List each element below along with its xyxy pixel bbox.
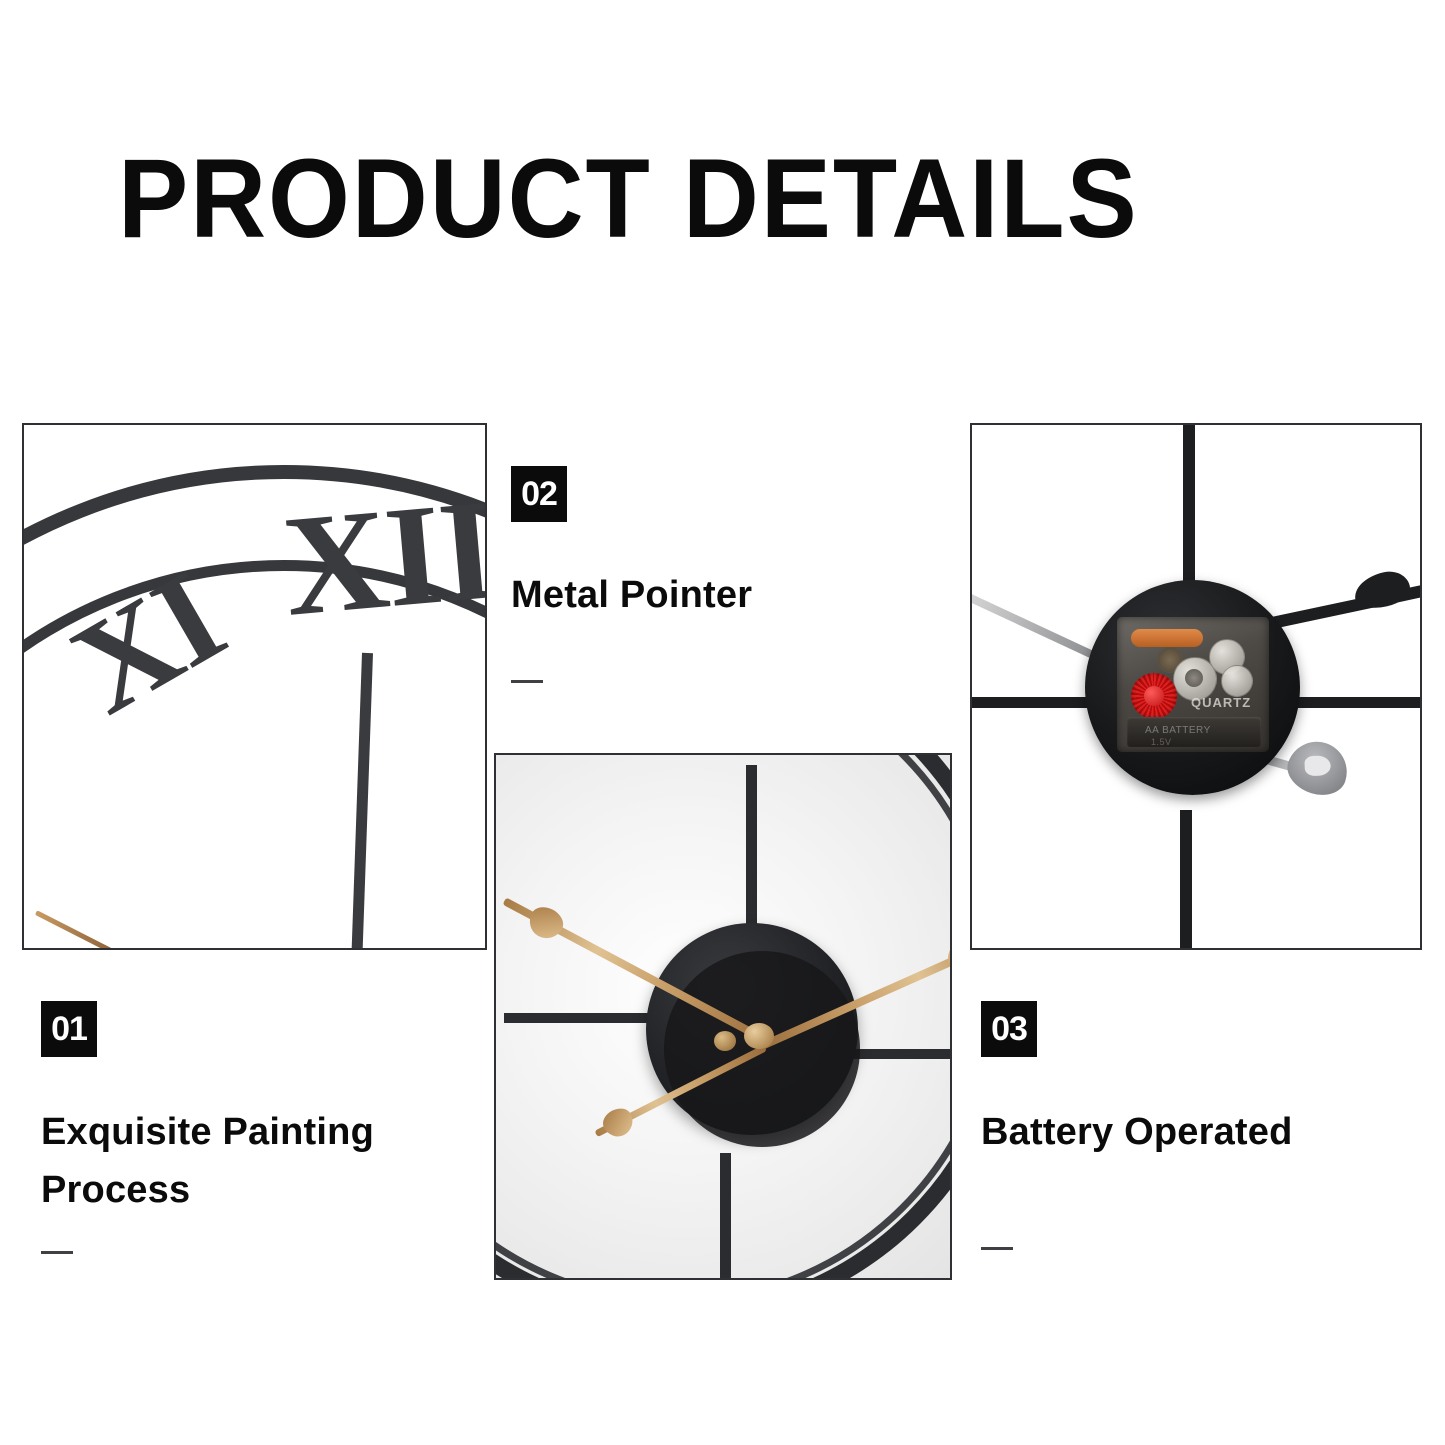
clock-spoke-left	[972, 697, 1094, 708]
copper-coil	[1131, 629, 1203, 647]
gear-hub	[1185, 669, 1203, 687]
gear-small	[1221, 665, 1253, 697]
feature-number-badge-02: 02	[511, 466, 567, 522]
page-title: PRODUCT DETAILS	[118, 143, 1139, 255]
hand-center-cap-secondary	[714, 1031, 736, 1051]
feature-label-03: Battery Operated	[981, 1103, 1401, 1161]
clock-spoke-bottom	[1180, 810, 1192, 948]
clock-spoke-top	[746, 765, 757, 925]
quartz-brand-text: QUARTZ	[1191, 695, 1251, 710]
clock-spoke-bottom	[720, 1153, 731, 1278]
clock-spoke-top	[1183, 425, 1195, 598]
feature-number-badge-01: 01	[41, 1001, 97, 1057]
battery-voltage-text: 1.5V	[1151, 737, 1172, 747]
feature-divider-03	[981, 1247, 1013, 1250]
photo-quartz-movement: QUARTZ AA BATTERY 1.5V	[972, 425, 1420, 948]
battery-label-text: AA BATTERY	[1145, 725, 1211, 736]
clock-spoke-right	[1294, 697, 1420, 708]
hand-center-cap	[744, 1023, 774, 1049]
product-photo-battery-operated: QUARTZ AA BATTERY 1.5V	[970, 423, 1422, 950]
photo-clock-rim: XI XII	[24, 425, 485, 948]
feature-divider-02	[511, 680, 543, 683]
feature-block-02: 02 Metal Pointer	[511, 466, 911, 683]
feature-block-01: 01 Exquisite Painting Process	[41, 1001, 461, 1254]
product-photo-metal-pointer	[494, 753, 952, 1280]
roman-numeral-xii: XII	[278, 478, 485, 640]
red-adjustment-wheel[interactable]	[1131, 673, 1177, 719]
product-details-page: PRODUCT DETAILS XI XII	[0, 0, 1445, 1445]
feature-label-01: Exquisite Painting Process	[41, 1103, 461, 1219]
photo-clock-hub	[496, 755, 950, 1278]
feature-number-badge-03: 03	[981, 1001, 1037, 1057]
clock-spoke-left	[504, 1013, 652, 1023]
feature-label-02: Metal Pointer	[511, 566, 911, 624]
movement-mechanism: QUARTZ AA BATTERY 1.5V	[1117, 617, 1269, 752]
feature-divider-01	[41, 1251, 73, 1254]
feature-block-03: 03 Battery Operated	[981, 1001, 1401, 1250]
product-photo-painting-process: XI XII	[22, 423, 487, 950]
